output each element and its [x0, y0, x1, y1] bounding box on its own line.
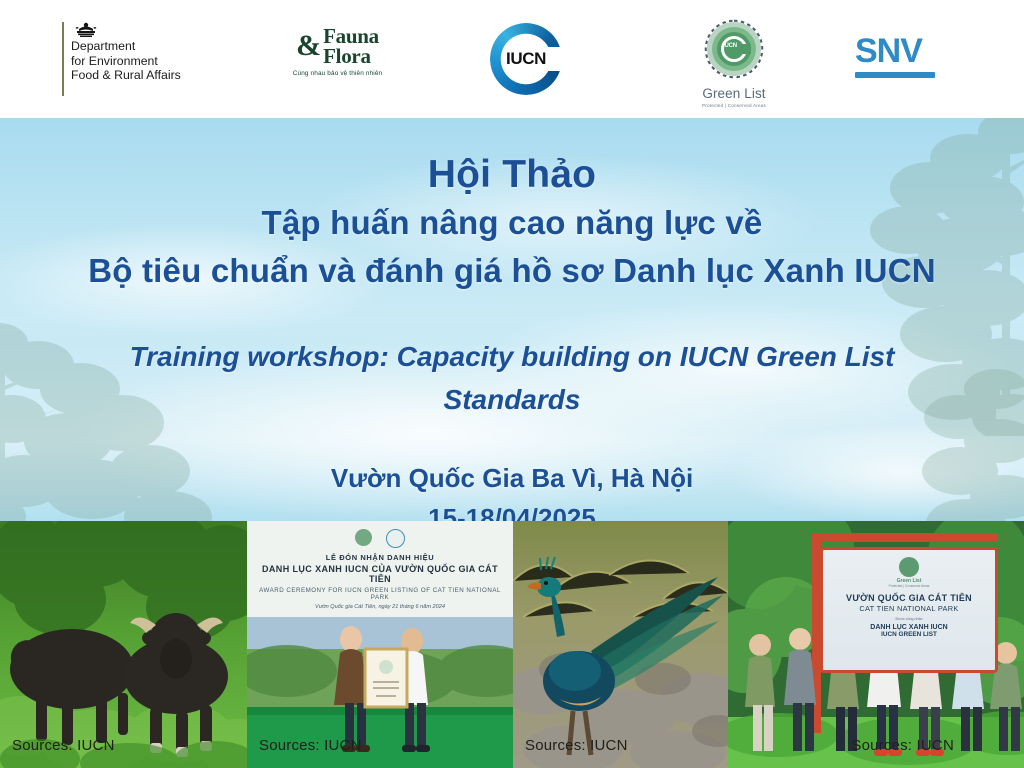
photo-green-peafowl: Sources: IUCN [513, 521, 728, 768]
hero-location: Vườn Quốc Gia Ba Vì, Hà Nội [0, 421, 1024, 499]
park-sign-line-5: IUCN GREEN LIST [823, 631, 995, 638]
defra-line-2: for Environment [71, 54, 181, 69]
photo-caption: Sources: IUCN [259, 737, 362, 754]
presentation-slide: Department for Environment Food & Rural … [0, 0, 1024, 768]
hero-title: Hội Thảo [0, 118, 1024, 199]
green-list-badge-sign-icon [899, 557, 919, 577]
park-sign-green-list-sub: Protected | Conserved Areas [823, 584, 995, 588]
park-sign-line-1: VƯỜN QUỐC GIA CÁT TIÊN [823, 593, 995, 603]
hero-text-block: Hội Thảo Tập huấn nâng cao năng lực về B… [0, 118, 1024, 521]
park-sign-line-2: CAT TIEN NATIONAL PARK [823, 604, 995, 613]
iucn-badge-small-icon [386, 529, 405, 548]
defra-line-3: Food & Rural Affairs [71, 68, 181, 83]
hero-dates: 15-18/04/2025 [0, 499, 1024, 521]
photo-caption: Sources: IUCN [12, 737, 115, 754]
ceremony-sign-logos [355, 529, 405, 548]
defra-rule [62, 22, 64, 96]
photo-gaur-wild-cattle: Sources: IUCN [0, 521, 247, 768]
ampersand-icon: & [296, 31, 321, 61]
park-sign-line-4: DANH LỤC XANH IUCN [823, 624, 995, 631]
iucn-logo: IUCN [480, 22, 572, 96]
defra-logo: Department for Environment Food & Rural … [62, 22, 227, 96]
ceremony-sign-line-2: DANH LỤC XANH IUCN CỦA VƯỜN QUỐC GIA CÁT… [255, 564, 505, 584]
fauna-word: Fauna [323, 26, 379, 46]
ceremony-sign-line-3: AWARD CEREMONY FOR IUCN GREEN LISTING OF… [255, 587, 505, 601]
photo-caption: Sources: IUCN [525, 737, 628, 754]
snv-logo-text: SNV [855, 34, 943, 68]
hero-english-line-1: Training workshop: Capacity building on … [0, 295, 1024, 379]
photo-caption: Sources: IUCN [851, 737, 954, 754]
defra-line-1: Department [71, 39, 181, 54]
green-list-badge-small-icon [355, 529, 372, 546]
royal-crown-icon [71, 22, 181, 39]
green-list-inner-text: IUCN [723, 43, 737, 49]
green-list-logo: IUCN Green List Protected | Conserved Ar… [690, 16, 778, 108]
fauna-and-flora-logo: & Fauna Flora Cùng nhau bảo vệ thiên nhi… [280, 26, 395, 92]
photo-group-at-park-sign: Green List Protected | Conserved Areas V… [728, 521, 1024, 768]
iucn-logo-text: IUCN [506, 49, 546, 69]
park-entrance-sign: Green List Protected | Conserved Areas V… [820, 547, 998, 673]
snv-logo: SNV [855, 34, 943, 84]
ceremony-sign-line-4: Vườn Quốc gia Cát Tiên, ngày 21 tháng 6 … [255, 604, 505, 610]
ceremony-backdrop-sign: LỄ ĐÓN NHẬN DANH HIỆU DANH LỤC XANH IUCN… [255, 527, 505, 613]
hero-english-line-2: Standards [0, 379, 1024, 421]
green-list-badge-icon: IUCN [701, 16, 767, 82]
iucn-ring-icon: IUCN [490, 23, 562, 95]
green-list-name: Green List [690, 86, 778, 101]
photo-strip: Sources: IUCN [0, 521, 1024, 768]
hero-banner: Hội Thảo Tập huấn nâng cao năng lực về B… [0, 118, 1024, 521]
fauna-flora-tagline: Cùng nhau bảo vệ thiên nhiên [280, 70, 395, 77]
ceremony-sign-line-1: LỄ ĐÓN NHẬN DANH HIỆU [255, 553, 505, 562]
hero-subtitle-line-1: Tập huấn nâng cao năng lực về [0, 199, 1024, 247]
park-sign-line-3: Được công nhận [823, 617, 995, 621]
snv-underline-bar [855, 72, 935, 78]
flora-word: Flora [323, 46, 379, 66]
photo-award-ceremony: LỄ ĐÓN NHẬN DANH HIỆU DANH LỤC XANH IUCN… [247, 521, 513, 768]
hero-subtitle-line-2: Bộ tiêu chuẩn và đánh giá hồ sơ Danh lục… [0, 247, 1024, 295]
green-list-subtitle: Protected | Conserved Areas [690, 103, 778, 108]
partner-logo-bar: Department for Environment Food & Rural … [0, 0, 1024, 118]
